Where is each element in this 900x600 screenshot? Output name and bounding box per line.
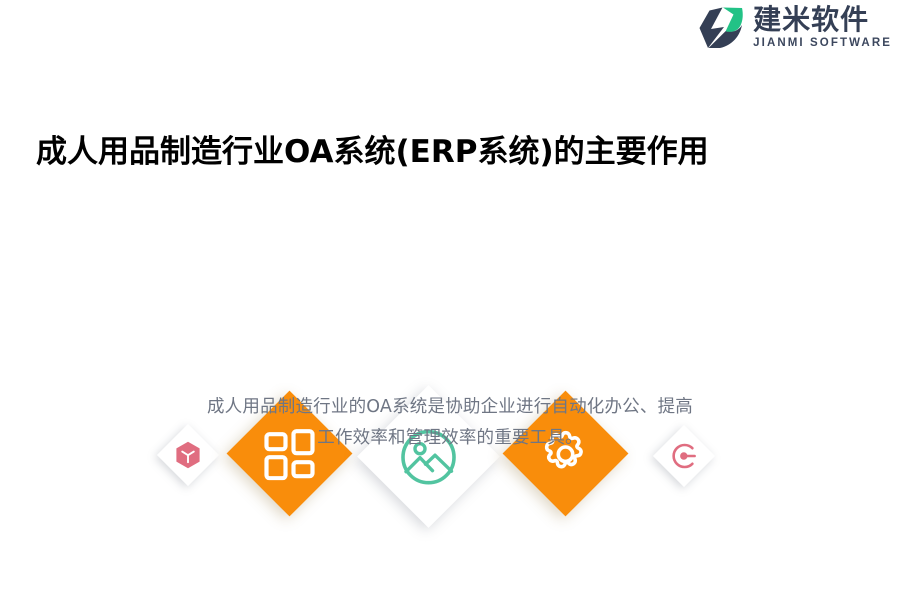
diamond-icon-row (0, 186, 900, 361)
page-title: 成人用品制造行业OA系统(ERP系统)的主要作用 (36, 126, 709, 171)
brand-logo: 建米软件 JIANMI SOFTWARE (699, 6, 892, 50)
description-text: 成人用品制造行业的OA系统是协助企业进行自动化办公、提高 工作效率和管理效率的重… (0, 392, 900, 453)
description-line-2: 工作效率和管理效率的重要工具。 (0, 423, 900, 454)
brand-name-en: JIANMI SOFTWARE (753, 38, 892, 50)
description-line-1: 成人用品制造行业的OA系统是协助企业进行自动化办公、提高 (0, 392, 900, 423)
jianmi-leaf-logo-icon (699, 7, 745, 49)
slide-root: { "brand": { "logo_icon": "jianmi-leaf-l… (0, 0, 900, 600)
brand-logo-text: 建米软件 JIANMI SOFTWARE (753, 6, 892, 50)
brand-name-cn: 建米软件 (753, 6, 892, 34)
